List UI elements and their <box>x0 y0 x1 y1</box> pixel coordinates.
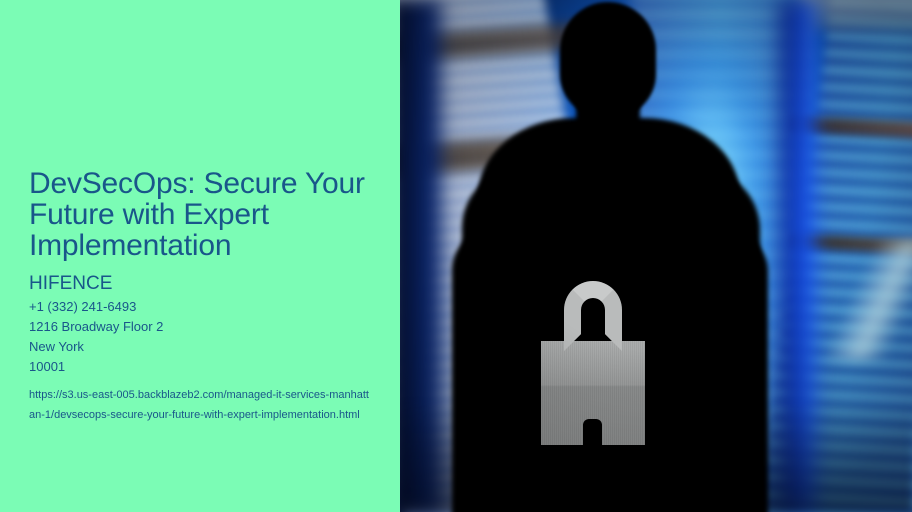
contact-city: New York <box>29 337 400 357</box>
silhouette-arm-right <box>680 230 768 512</box>
contact-zip: 10001 <box>29 357 400 377</box>
text-stack: DevSecOps: Secure Your Future with Exper… <box>29 168 400 425</box>
source-url-line-1: https://s3.us-east-005.backblazeb2.com/m… <box>29 385 374 405</box>
hero-image <box>400 0 912 512</box>
page-title-line-2: Future with Expert <box>29 199 400 230</box>
promo-card: DevSecOps: Secure Your Future with Exper… <box>0 0 912 512</box>
source-url[interactable]: https://s3.us-east-005.backblazeb2.com/m… <box>29 385 374 425</box>
silhouette-arm-left <box>452 230 538 512</box>
padlock-icon <box>541 281 645 445</box>
text-panel: DevSecOps: Secure Your Future with Exper… <box>0 0 400 512</box>
contact-phone[interactable]: +1 (332) 241-6493 <box>29 297 400 317</box>
page-title-line-3: Implementation <box>29 230 400 261</box>
source-url-line-2: an-1/devsecops-secure-your-future-with-e… <box>29 405 374 425</box>
person-silhouette <box>400 0 912 512</box>
brand-name: HIFENCE <box>29 272 400 295</box>
padlock-keyhole <box>583 419 602 447</box>
silhouette-head <box>560 2 656 118</box>
padlock-shackle-highlight <box>564 281 622 351</box>
contact-street: 1216 Broadway Floor 2 <box>29 317 400 337</box>
page-title-line-1: DevSecOps: Secure Your <box>29 168 400 199</box>
